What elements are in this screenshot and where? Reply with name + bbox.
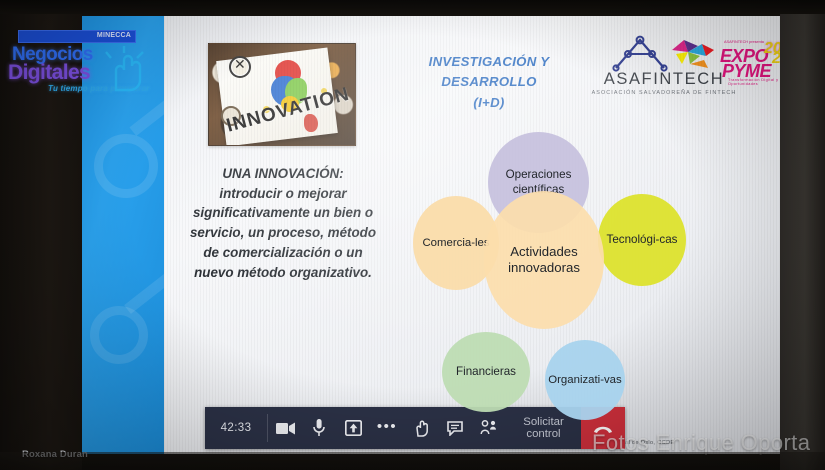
expo-pyme-logo: ASAFINTECH presenta EXPO PYME 20 20 Tran… [720,38,780,88]
section-heading: INVESTIGACIÓN Y DESARROLLO (I+D) [400,52,578,113]
innovation-photo: INNOVATION [208,43,356,146]
rail-decoration-bar [129,99,164,136]
no-symbol-icon [229,56,251,78]
bubble-financieras: Financieras [442,332,530,412]
definition-lead: UNA INNOVACIÓN: [222,166,343,181]
rail-decoration-ring [90,306,148,364]
raise-hand-icon[interactable] [404,407,438,449]
monitor-bezel-right [780,14,825,470]
negocios-line-2: Digitales [8,61,90,85]
heading-line-1: INVESTIGACIÓN Y [429,54,550,69]
monitor-bezel-top [0,0,825,16]
negocios-digitales-logo: MINECCA Negocios Digitales Tu tiempo par… [4,26,154,102]
expo-top-note: ASAFINTECH presenta [724,40,764,44]
rail-decoration-bar [124,273,164,314]
asafintech-subtitle: ASOCIACIÓN SALVADOREÑA DE FINTECH [588,90,740,96]
expo-tagline: Transformación Digital y Oportunidades [728,78,780,86]
share-screen-icon[interactable] [336,407,370,449]
more-options-icon[interactable]: ••• [370,407,404,449]
request-control-button[interactable]: Solicitar control [506,416,581,440]
photographed-screen: INNOVATION UNA INNOVACIÓN: introducir o … [0,0,825,470]
camera-icon[interactable] [268,407,302,449]
bubble-organizativas: Organizati-vas [545,340,625,420]
bubble-actividades-innovadoras: Actividades innovadoras [484,191,604,329]
asafintech-mark-icon [610,34,720,72]
minecca-badge-label: MINECCA [97,32,131,39]
bubble-tecnologicas: Tecnológi-cas [598,194,686,286]
presentation-slide[interactable]: INNOVATION UNA INNOVACIÓN: introducir o … [164,16,780,454]
monitor-bezel-bottom [0,452,825,470]
expo-year-2: 20 [772,50,780,68]
heading-line-3: (I+D) [473,95,504,110]
microphone-icon[interactable] [302,407,336,449]
chat-icon[interactable] [438,407,472,449]
hand-cursor-icon [100,46,152,94]
participants-icon[interactable] [472,407,506,449]
minecca-badge-bar: MINECCA [18,30,136,43]
innovation-definition: UNA INNOVACIÓN: introducir o mejorar sig… [186,164,380,282]
asafintech-name: ASAFINTECH [588,70,740,89]
heading-line-2: DESARROLLO [441,74,536,89]
rail-decoration-ring [94,134,158,198]
asafintech-logo: ASAFINTECH ASOCIACIÓN SALVADOREÑA DE FIN… [588,34,740,106]
call-timer: 42:33 [205,422,267,434]
call-control-icons[interactable]: ••• [268,407,506,449]
definition-body: introducir o mejorar significativamente … [190,186,376,280]
